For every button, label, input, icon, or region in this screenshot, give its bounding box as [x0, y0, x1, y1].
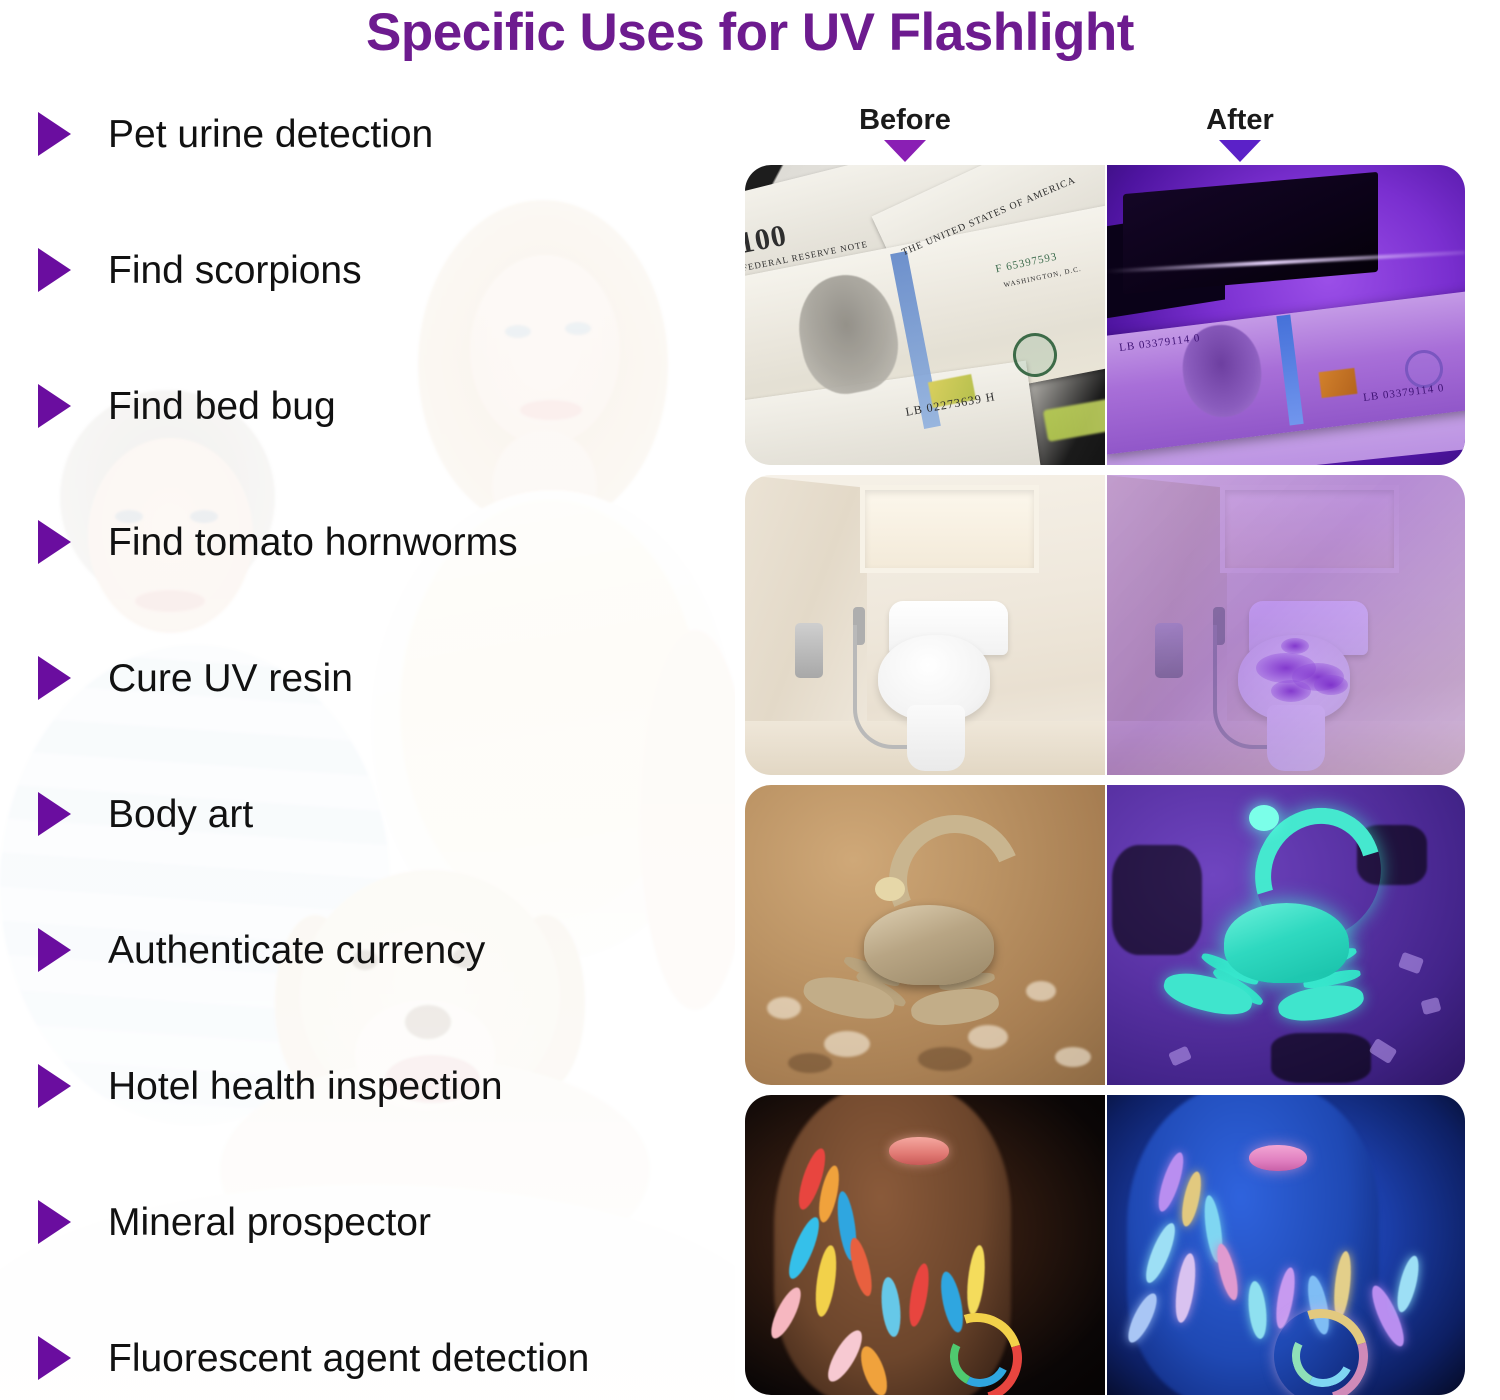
- use-list-item: Mineral prospector: [38, 1198, 431, 1246]
- triangle-bullet-icon: [38, 928, 71, 972]
- after-column-header: After: [1140, 106, 1340, 162]
- use-list-item-label: Find bed bug: [108, 387, 336, 426]
- use-list-item: Cure UV resin: [38, 654, 353, 702]
- before-label: Before: [805, 106, 1005, 135]
- use-list-item: Find bed bug: [38, 382, 336, 430]
- after-label: After: [1140, 106, 1340, 135]
- triangle-bullet-icon: [38, 792, 71, 836]
- uses-list-panel: Pet urine detectionFind scorpionsFind be…: [0, 70, 735, 1400]
- scorpion-before-image: [745, 785, 1105, 1085]
- triangle-bullet-icon: [38, 248, 71, 292]
- triangle-bullet-icon: [38, 112, 71, 156]
- comparison-row-body-art: [745, 1095, 1465, 1395]
- triangle-bullet-icon: [38, 1200, 71, 1244]
- triangle-bullet-icon: [38, 1336, 71, 1380]
- before-down-arrow-icon: [884, 140, 926, 162]
- bathroom-before-image: [745, 475, 1105, 775]
- comparison-row-scorpion: [745, 785, 1465, 1085]
- currency-before-image: 100 THE UNITED STATES OF AMERICA FEDERAL…: [745, 165, 1105, 465]
- use-list-item: Body art: [38, 790, 253, 838]
- use-list-item-label: Fluorescent agent detection: [108, 1339, 589, 1378]
- use-list-item: Find scorpions: [38, 246, 362, 294]
- use-list-item: Pet urine detection: [38, 110, 433, 158]
- triangle-bullet-icon: [38, 384, 71, 428]
- use-list-item-label: Authenticate currency: [108, 931, 485, 970]
- use-list-item-label: Body art: [108, 795, 253, 834]
- body-art-after-image: [1105, 1095, 1465, 1395]
- currency-after-image: LB 03379114 0 LB 03379114 0: [1105, 165, 1465, 465]
- before-after-gallery: Before After 100 THE UNITED STATES OF AM…: [735, 0, 1500, 1400]
- after-down-arrow-icon: [1219, 140, 1261, 162]
- triangle-bullet-icon: [38, 656, 71, 700]
- scorpion-after-image: [1105, 785, 1465, 1085]
- triangle-bullet-icon: [38, 1064, 71, 1108]
- use-list-item-label: Cure UV resin: [108, 659, 353, 698]
- use-list-item: Fluorescent agent detection: [38, 1334, 589, 1382]
- use-list-item-label: Find tomato hornworms: [108, 523, 518, 562]
- use-list-item: Authenticate currency: [38, 926, 485, 974]
- uses-list: Pet urine detectionFind scorpionsFind be…: [0, 70, 735, 1400]
- use-list-item-label: Mineral prospector: [108, 1203, 431, 1242]
- comparison-row-currency: 100 THE UNITED STATES OF AMERICA FEDERAL…: [745, 165, 1465, 465]
- use-list-item: Find tomato hornworms: [38, 518, 518, 566]
- triangle-bullet-icon: [38, 520, 71, 564]
- bathroom-after-image: [1105, 475, 1465, 775]
- use-list-item-label: Find scorpions: [108, 251, 362, 290]
- use-list-item: Hotel health inspection: [38, 1062, 503, 1110]
- use-list-item-label: Pet urine detection: [108, 115, 433, 154]
- uv-flashlight-infographic: Specific Uses for UV Flashlight: [0, 0, 1500, 1400]
- comparison-row-bathroom: [745, 475, 1465, 775]
- before-column-header: Before: [805, 106, 1005, 162]
- body-art-before-image: [745, 1095, 1105, 1395]
- use-list-item-label: Hotel health inspection: [108, 1067, 503, 1106]
